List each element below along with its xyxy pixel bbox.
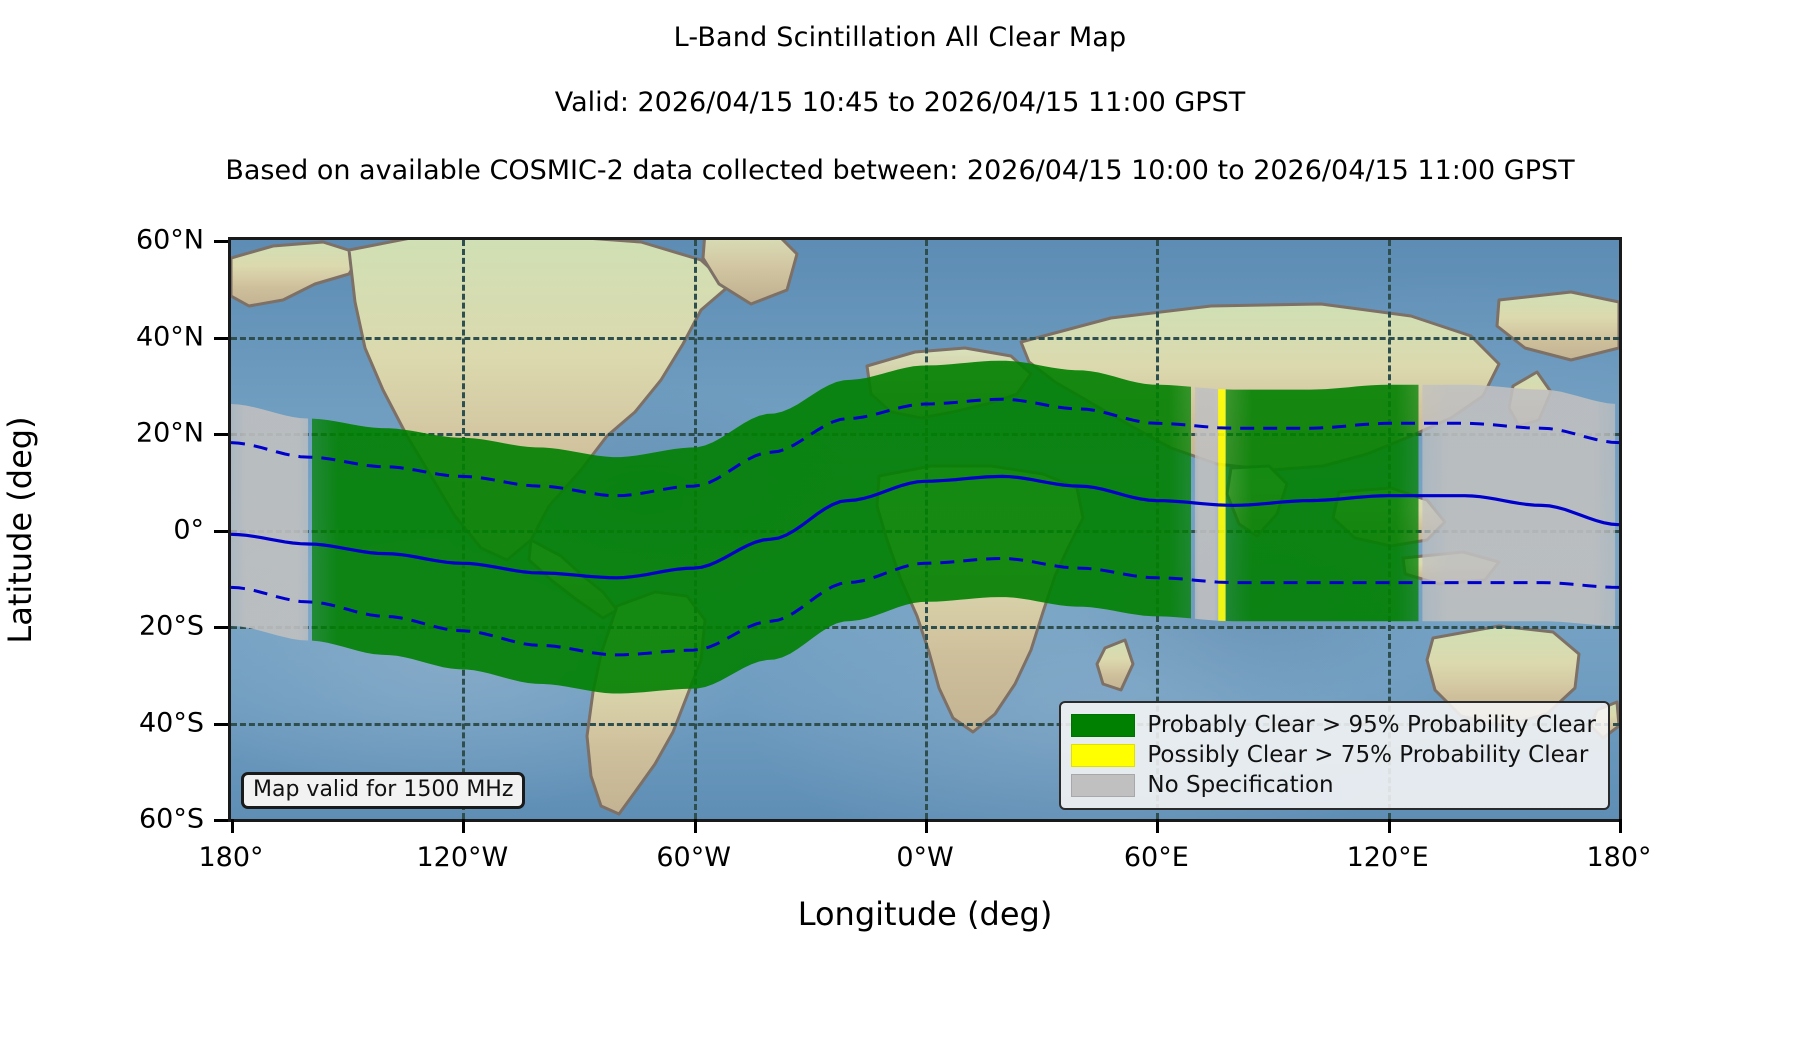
x-tick-label: 180° (1586, 842, 1651, 873)
data-source-note: Based on available COSMIC-2 data collect… (0, 155, 1800, 186)
frequency-annotation: Map valid for 1500 MHz (241, 772, 525, 809)
x-tick-label: 60°E (1124, 842, 1189, 873)
legend-label: Probably Clear > 95% Probability Clear (1147, 712, 1596, 738)
y-tick-mark (214, 240, 228, 243)
y-tick-mark (214, 337, 228, 340)
x-tick-mark (231, 819, 234, 833)
x-tick-label: 180° (198, 842, 263, 873)
y-tick-label: 40°S (0, 707, 204, 738)
legend-item[interactable]: Possibly Clear > 75% Probability Clear (1071, 740, 1596, 770)
y-tick-label: 40°N (0, 321, 204, 352)
x-tick-mark (1156, 819, 1159, 833)
map-plot-area[interactable]: Map valid for 1500 MHz Probably Clear > … (228, 237, 1622, 822)
page-title: L-Band Scintillation All Clear Map (0, 22, 1800, 53)
y-tick-mark (214, 530, 228, 533)
y-tick-mark (214, 819, 228, 822)
x-tick-mark (1388, 819, 1391, 833)
x-tick-label: 120°E (1347, 842, 1429, 873)
y-tick-mark (214, 723, 228, 726)
legend[interactable]: Probably Clear > 95% Probability Clear P… (1059, 701, 1610, 810)
y-tick-mark (214, 626, 228, 629)
legend-swatch-no-specification (1071, 774, 1135, 797)
scintillation-map-page: L-Band Scintillation All Clear Map Valid… (0, 0, 1800, 1050)
x-tick-label: 120°W (416, 842, 508, 873)
y-tick-mark (214, 433, 228, 436)
validity-subtitle: Valid: 2026/04/15 10:45 to 2026/04/15 11… (0, 87, 1800, 118)
legend-item[interactable]: No Specification (1071, 770, 1596, 800)
y-tick-label: 60°N (0, 225, 204, 256)
x-tick-mark (925, 819, 928, 833)
legend-item[interactable]: Probably Clear > 95% Probability Clear (1071, 710, 1596, 740)
x-tick-mark (1619, 819, 1622, 833)
legend-label: Possibly Clear > 75% Probability Clear (1147, 742, 1588, 768)
x-tick-label: 0°W (896, 842, 953, 873)
x-tick-label: 60°W (656, 842, 731, 873)
x-tick-mark (462, 819, 465, 833)
x-tick-mark (694, 819, 697, 833)
legend-swatch-probably-clear (1071, 714, 1135, 737)
legend-swatch-possibly-clear (1071, 744, 1135, 767)
legend-label: No Specification (1147, 772, 1333, 798)
y-tick-label: 60°S (0, 804, 204, 835)
x-axis-title: Longitude (deg) (798, 895, 1053, 933)
y-axis-title: Latitude (deg) (1, 416, 39, 643)
